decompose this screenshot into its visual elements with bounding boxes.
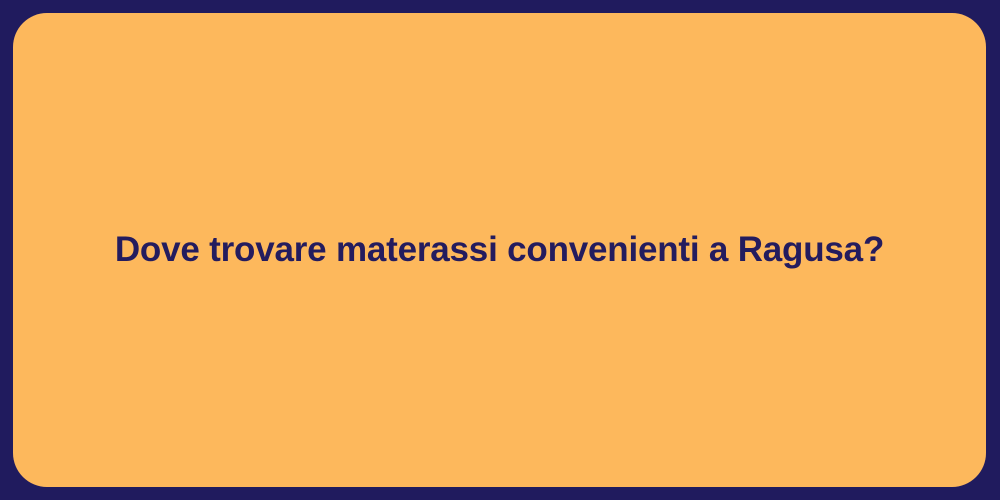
- banner-card: Dove trovare materassi convenienti a Rag…: [13, 13, 986, 487]
- page-title: Dove trovare materassi convenienti a Rag…: [75, 227, 924, 273]
- banner-frame: Dove trovare materassi convenienti a Rag…: [0, 0, 1000, 500]
